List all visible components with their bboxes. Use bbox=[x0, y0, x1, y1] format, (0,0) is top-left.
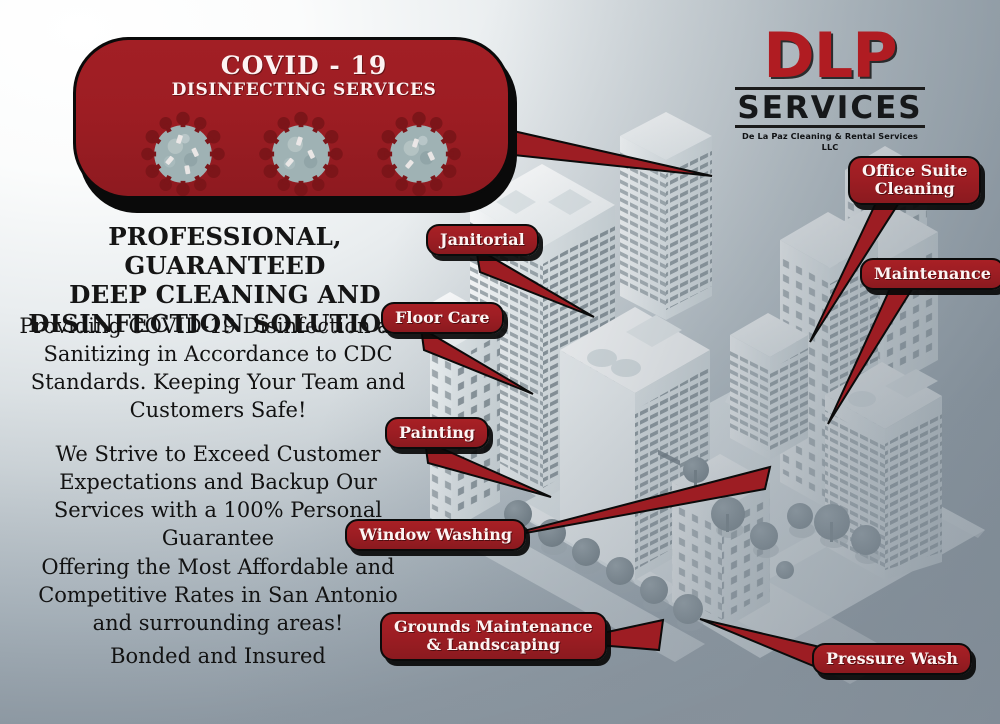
callout-label-line-2: Cleaning bbox=[862, 180, 967, 198]
callout-label-janitorial: Janitorial bbox=[426, 224, 539, 256]
logo-mark: DLP bbox=[735, 26, 925, 86]
callout-grounds-maintenance[interactable]: Grounds Maintenance & Landscaping bbox=[380, 612, 607, 661]
callout-label-line-1: Grounds Maintenance bbox=[394, 618, 593, 636]
callout-tail-maintenance bbox=[828, 280, 968, 460]
callout-maintenance[interactable]: Maintenance bbox=[860, 258, 1000, 290]
covid-banner-body: COVID - 19 DISINFECTING SERVICES bbox=[73, 37, 511, 199]
coronavirus-icon bbox=[135, 106, 231, 199]
covid-banner: COVID - 19 DISINFECTING SERVICES bbox=[73, 37, 511, 205]
callout-label-floor-care: Floor Care bbox=[381, 302, 504, 334]
callout-janitorial[interactable]: Janitorial bbox=[426, 224, 539, 256]
callout-floor-care[interactable]: Floor Care bbox=[381, 302, 504, 334]
logo-name: SERVICES bbox=[735, 92, 925, 124]
building-mid-right bbox=[730, 313, 808, 460]
covid-banner-pointer bbox=[500, 120, 730, 190]
callout-label-pressure-wash: Pressure Wash bbox=[812, 643, 972, 675]
headline-line-2: DEEP CLEANING AND bbox=[20, 280, 430, 309]
flyer-canvas: COVID - 19 DISINFECTING SERVICES bbox=[0, 0, 1000, 724]
body-paragraph-1: Providing COVID-19 Disinfection and Sani… bbox=[18, 312, 418, 424]
callout-office-suite-cleaning[interactable]: Office Suite Cleaning bbox=[848, 156, 981, 205]
callout-label-line-2: & Landscaping bbox=[394, 636, 593, 654]
callout-tail-floor-care bbox=[421, 322, 581, 412]
callout-pressure-wash[interactable]: Pressure Wash bbox=[812, 643, 972, 675]
callout-window-washing[interactable]: Window Washing bbox=[345, 519, 526, 551]
callout-label-grounds-maintenance: Grounds Maintenance & Landscaping bbox=[380, 612, 607, 661]
coronavirus-illustration-group bbox=[76, 106, 508, 199]
callout-label-office-suite-cleaning: Office Suite Cleaning bbox=[848, 156, 981, 205]
body-paragraph-4: Bonded and Insured bbox=[18, 642, 418, 670]
covid-banner-subtitle: DISINFECTING SERVICES bbox=[76, 81, 508, 100]
callout-label-painting: Painting bbox=[385, 417, 489, 449]
callout-painting[interactable]: Painting bbox=[385, 417, 489, 449]
dlp-logo: DLP SERVICES De La Paz Cleaning & Rental… bbox=[735, 26, 925, 153]
callout-label-maintenance: Maintenance bbox=[860, 258, 1000, 290]
headline-line-1: PROFESSIONAL, GUARANTEED bbox=[20, 222, 430, 280]
coronavirus-icon bbox=[371, 106, 467, 199]
callout-label-window-washing: Window Washing bbox=[345, 519, 526, 551]
body-paragraph-3: Offering the Most Affordable and Competi… bbox=[18, 553, 418, 637]
covid-banner-title: COVID - 19 bbox=[76, 53, 508, 79]
logo-tagline: De La Paz Cleaning & Rental Services LLC bbox=[735, 131, 925, 153]
callout-label-line-1: Office Suite bbox=[862, 162, 967, 180]
coronavirus-icon bbox=[253, 106, 349, 199]
